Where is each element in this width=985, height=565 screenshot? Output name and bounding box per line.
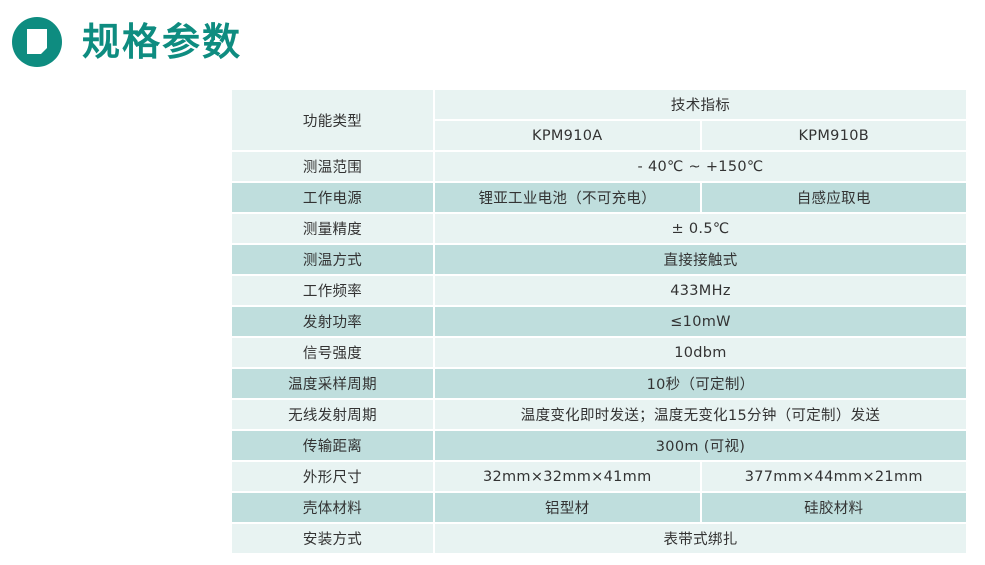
row-label: 壳体材料 — [232, 493, 433, 522]
row-label: 无线发射周期 — [232, 400, 433, 429]
row-value: 10秒（可定制） — [435, 369, 966, 398]
row-label: 温度采样周期 — [232, 369, 433, 398]
row-value-b: 377mm×44mm×21mm — [702, 462, 967, 491]
row-value-a: 铝型材 — [435, 493, 700, 522]
table-row: 传输距离 300m (可视) — [232, 431, 966, 460]
section-header: 规格参数 — [12, 12, 242, 72]
page-title: 规格参数 — [82, 23, 242, 61]
row-value: - 40℃ ~ +150℃ — [435, 152, 966, 181]
table-row: 外形尺寸 32mm×32mm×41mm 377mm×44mm×21mm — [232, 462, 966, 491]
document-page-icon — [12, 17, 62, 67]
row-value: 433MHz — [435, 276, 966, 305]
row-value: 300m (可视) — [435, 431, 966, 460]
spec-page: 规格参数 功能类型 技术指标 KPM910A KPM910B 测温范围 - 40… — [0, 0, 985, 565]
table-row: 壳体材料 铝型材 硅胶材料 — [232, 493, 966, 522]
row-label: 外形尺寸 — [232, 462, 433, 491]
row-value: 10dbm — [435, 338, 966, 367]
row-value: 表带式绑扎 — [435, 524, 966, 553]
row-value: 温度变化即时发送；温度无变化15分钟（可定制）发送 — [435, 400, 966, 429]
spec-table: 功能类型 技术指标 KPM910A KPM910B 测温范围 - 40℃ ~ +… — [230, 88, 968, 555]
row-label: 测量精度 — [232, 214, 433, 243]
table-row: 测温范围 - 40℃ ~ +150℃ — [232, 152, 966, 181]
row-value-a: 锂亚工业电池（不可充电） — [435, 183, 700, 212]
header-function-type-label: 功能类型 — [232, 90, 433, 150]
table-row: 测量精度 ± 0.5℃ — [232, 214, 966, 243]
table-row: 测温方式 直接接触式 — [232, 245, 966, 274]
row-label: 测温范围 — [232, 152, 433, 181]
row-label: 安装方式 — [232, 524, 433, 553]
row-label: 信号强度 — [232, 338, 433, 367]
table-row: 温度采样周期 10秒（可定制） — [232, 369, 966, 398]
table-row: 安装方式 表带式绑扎 — [232, 524, 966, 553]
row-label: 工作电源 — [232, 183, 433, 212]
spec-table-body: 功能类型 技术指标 KPM910A KPM910B 测温范围 - 40℃ ~ +… — [232, 90, 966, 553]
row-value: ± 0.5℃ — [435, 214, 966, 243]
row-label: 传输距离 — [232, 431, 433, 460]
header-metric-group-label: 技术指标 — [435, 90, 966, 119]
spec-table-container: 功能类型 技术指标 KPM910A KPM910B 测温范围 - 40℃ ~ +… — [230, 88, 950, 555]
row-value-a: 32mm×32mm×41mm — [435, 462, 700, 491]
table-row: 信号强度 10dbm — [232, 338, 966, 367]
table-row: 工作频率 433MHz — [232, 276, 966, 305]
row-label: 工作频率 — [232, 276, 433, 305]
row-value-b: 硅胶材料 — [702, 493, 967, 522]
header-model-a: KPM910A — [435, 121, 700, 150]
header-model-b: KPM910B — [702, 121, 967, 150]
table-row: 发射功率 ≤10mW — [232, 307, 966, 336]
row-value: ≤10mW — [435, 307, 966, 336]
row-value: 直接接触式 — [435, 245, 966, 274]
row-label: 发射功率 — [232, 307, 433, 336]
row-label: 测温方式 — [232, 245, 433, 274]
table-header-row-top: 功能类型 技术指标 — [232, 90, 966, 119]
table-row: 无线发射周期 温度变化即时发送；温度无变化15分钟（可定制）发送 — [232, 400, 966, 429]
row-value-b: 自感应取电 — [702, 183, 967, 212]
table-row: 工作电源 锂亚工业电池（不可充电） 自感应取电 — [232, 183, 966, 212]
